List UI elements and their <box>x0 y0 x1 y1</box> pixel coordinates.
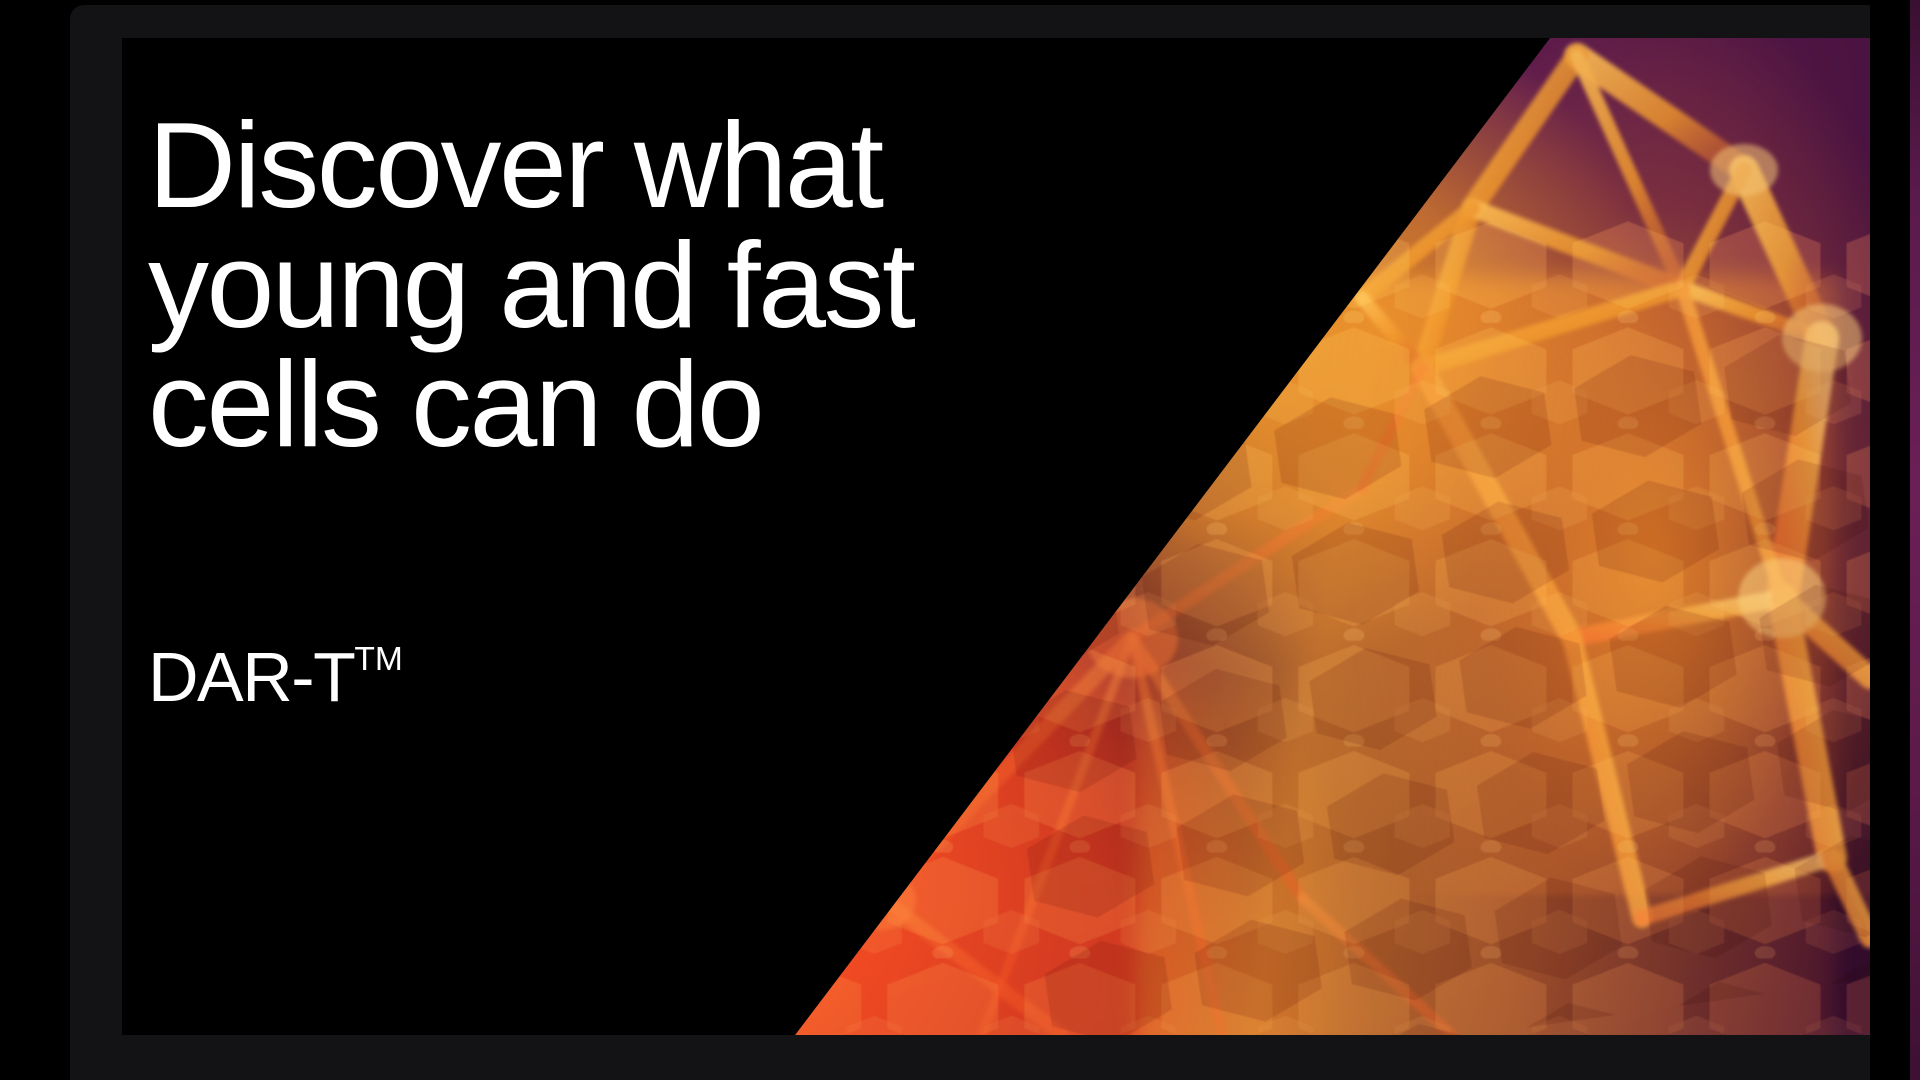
product-name: DAR-TTM <box>148 642 403 712</box>
trademark-symbol: TM <box>354 643 402 677</box>
slide-panel: Discover what young and fast cells can d… <box>122 38 1870 1035</box>
product-name-text: DAR-T <box>148 642 354 712</box>
right-edge-bleed <box>1910 0 1920 1080</box>
page-title: Discover what young and fast cells can d… <box>148 106 1148 465</box>
slide-stage: Discover what young and fast cells can d… <box>0 0 1920 1080</box>
